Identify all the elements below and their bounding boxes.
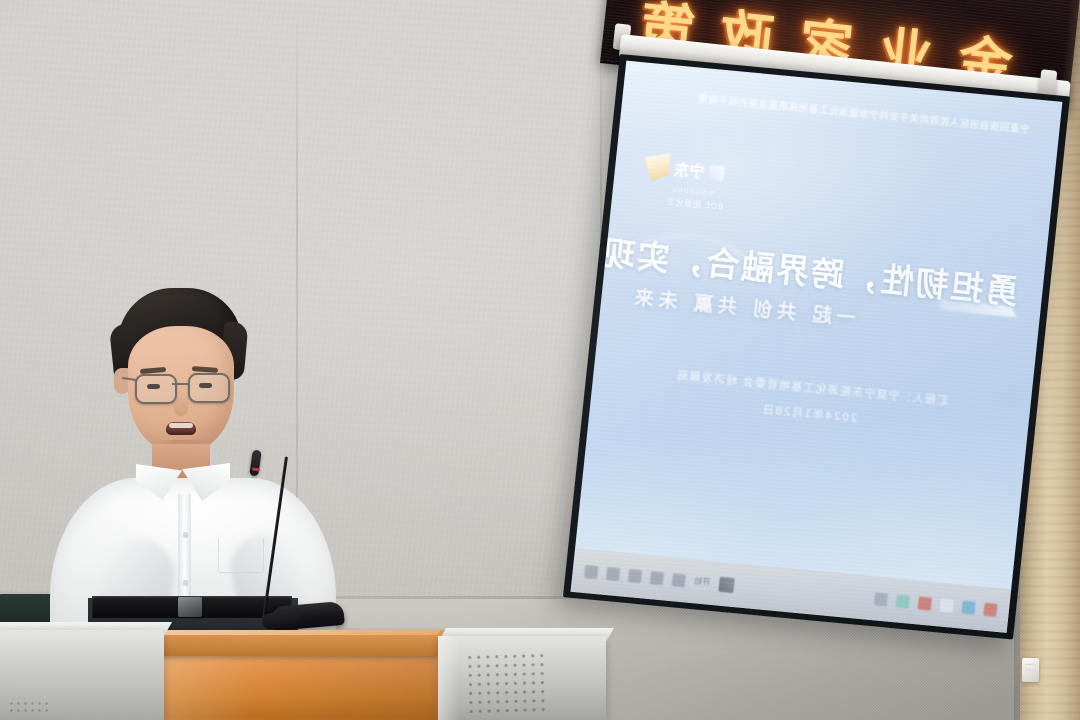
settings-icon[interactable] bbox=[874, 592, 888, 606]
eyeglasses-bridge bbox=[172, 383, 189, 385]
logo-row: 宁东 bbox=[642, 151, 726, 188]
task-view-icon[interactable] bbox=[650, 571, 664, 585]
pa-speaker-left-grille bbox=[8, 700, 48, 716]
projected-slide: 宁夏回族自治区人民政府关于支持宁东能源化工基地高质量发展的若干政策 宁东 NIN… bbox=[575, 61, 1062, 590]
pdf-icon[interactable] bbox=[983, 602, 997, 616]
shirt-button bbox=[183, 580, 188, 585]
screen-surface: 宁夏回族自治区人民政府关于支持宁东能源化工基地高质量发展的若干政策 宁东 NIN… bbox=[571, 61, 1063, 633]
wooden-lectern bbox=[128, 630, 438, 720]
start-icon[interactable] bbox=[718, 576, 735, 592]
pa-speaker-right-grille bbox=[465, 651, 551, 719]
folder-icon[interactable] bbox=[628, 569, 642, 583]
shirt-button bbox=[183, 532, 188, 537]
edge-icon[interactable] bbox=[584, 564, 598, 578]
eyeglasses-lens-right bbox=[188, 373, 230, 403]
shirt-pocket bbox=[218, 538, 264, 573]
taskbar-right-group[interactable] bbox=[874, 592, 998, 617]
presenter-person bbox=[40, 288, 340, 648]
excel-icon[interactable] bbox=[896, 594, 910, 608]
logo-english-text: NINGDONG bbox=[671, 186, 715, 197]
taskbar-start-label: 开始 bbox=[694, 576, 711, 587]
lectern-top-highlight bbox=[128, 630, 441, 635]
logo-sub-text: BOE 能源化工 bbox=[665, 196, 724, 212]
wall-light-switch[interactable] bbox=[1022, 658, 1039, 682]
teeth bbox=[169, 423, 193, 428]
word-icon[interactable] bbox=[961, 600, 975, 614]
logo-swoosh-icon bbox=[642, 151, 671, 183]
taskbar-left-group[interactable]: 开始 bbox=[584, 563, 735, 592]
belt-buckle bbox=[178, 597, 202, 617]
logo-mark-icon bbox=[708, 164, 725, 180]
ppt-icon[interactable] bbox=[918, 596, 932, 610]
conference-room-photo: 金业家政策 宁夏回族自治区人民政府关于支持宁东能源化工基地高质量发展的若干政策 … bbox=[0, 0, 1080, 720]
lectern-sheen bbox=[150, 654, 438, 720]
projection-screen: 宁夏回族自治区人民政府关于支持宁东能源化工基地高质量发展的若干政策 宁东 NIN… bbox=[563, 54, 1070, 640]
slide-logo: 宁东 NINGDONG BOE 能源化工 bbox=[639, 151, 728, 213]
slide-eyebrow-text: 宁夏回族自治区人民政府关于支持宁东能源化工基地高质量发展的若干政策 bbox=[682, 92, 1030, 137]
nose bbox=[174, 392, 188, 416]
screen-bracket-right bbox=[1039, 69, 1058, 97]
logo-name-text: 宁东 bbox=[673, 158, 705, 182]
file-icon[interactable] bbox=[940, 598, 954, 612]
mail-icon[interactable] bbox=[606, 567, 620, 581]
search-icon[interactable] bbox=[672, 573, 686, 587]
pa-speaker-right-bevel bbox=[438, 636, 460, 720]
eyeglasses-lens-left bbox=[135, 374, 177, 404]
